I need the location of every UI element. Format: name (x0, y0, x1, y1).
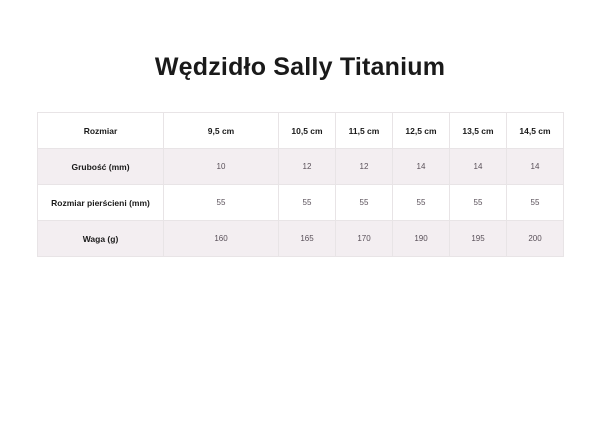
cell-thickness-5: 14 (450, 149, 507, 185)
column-header-size-3: 11,5 cm (336, 113, 393, 149)
row-label-thickness: Grubość (mm) (38, 149, 164, 185)
column-header-size-2: 10,5 cm (279, 113, 336, 149)
row-label-weight: Waga (g) (38, 221, 164, 257)
column-header-size-5: 13,5 cm (450, 113, 507, 149)
cell-thickness-6: 14 (507, 149, 564, 185)
cell-weight-4: 190 (393, 221, 450, 257)
cell-ring-size-5: 55 (450, 185, 507, 221)
cell-weight-6: 200 (507, 221, 564, 257)
cell-ring-size-1: 55 (164, 185, 279, 221)
cell-ring-size-4: 55 (393, 185, 450, 221)
cell-thickness-3: 12 (336, 149, 393, 185)
header-corner-label: Rozmiar (38, 113, 164, 149)
cell-weight-3: 170 (336, 221, 393, 257)
spec-table-container: Rozmiar 9,5 cm 10,5 cm 11,5 cm 12,5 cm 1… (37, 82, 563, 257)
cell-weight-2: 165 (279, 221, 336, 257)
row-label-ring-size: Rozmiar pierścieni (mm) (38, 185, 164, 221)
cell-thickness-2: 12 (279, 149, 336, 185)
cell-thickness-4: 14 (393, 149, 450, 185)
column-header-size-4: 12,5 cm (393, 113, 450, 149)
page-root: Wędzidło Sally Titanium Rozmiar 9,5 cm 1… (0, 0, 600, 424)
specification-table: Rozmiar 9,5 cm 10,5 cm 11,5 cm 12,5 cm 1… (37, 112, 564, 257)
cell-ring-size-2: 55 (279, 185, 336, 221)
table-row: Grubość (mm) 10 12 12 14 14 14 (38, 149, 564, 185)
cell-weight-5: 195 (450, 221, 507, 257)
table-row: Waga (g) 160 165 170 190 195 200 (38, 221, 564, 257)
page-title: Wędzidło Sally Titanium (0, 0, 600, 82)
cell-weight-1: 160 (164, 221, 279, 257)
cell-thickness-1: 10 (164, 149, 279, 185)
cell-ring-size-6: 55 (507, 185, 564, 221)
column-header-size-1: 9,5 cm (164, 113, 279, 149)
column-header-size-6: 14,5 cm (507, 113, 564, 149)
cell-ring-size-3: 55 (336, 185, 393, 221)
table-row: Rozmiar pierścieni (mm) 55 55 55 55 55 5… (38, 185, 564, 221)
table-header-row: Rozmiar 9,5 cm 10,5 cm 11,5 cm 12,5 cm 1… (38, 113, 564, 149)
